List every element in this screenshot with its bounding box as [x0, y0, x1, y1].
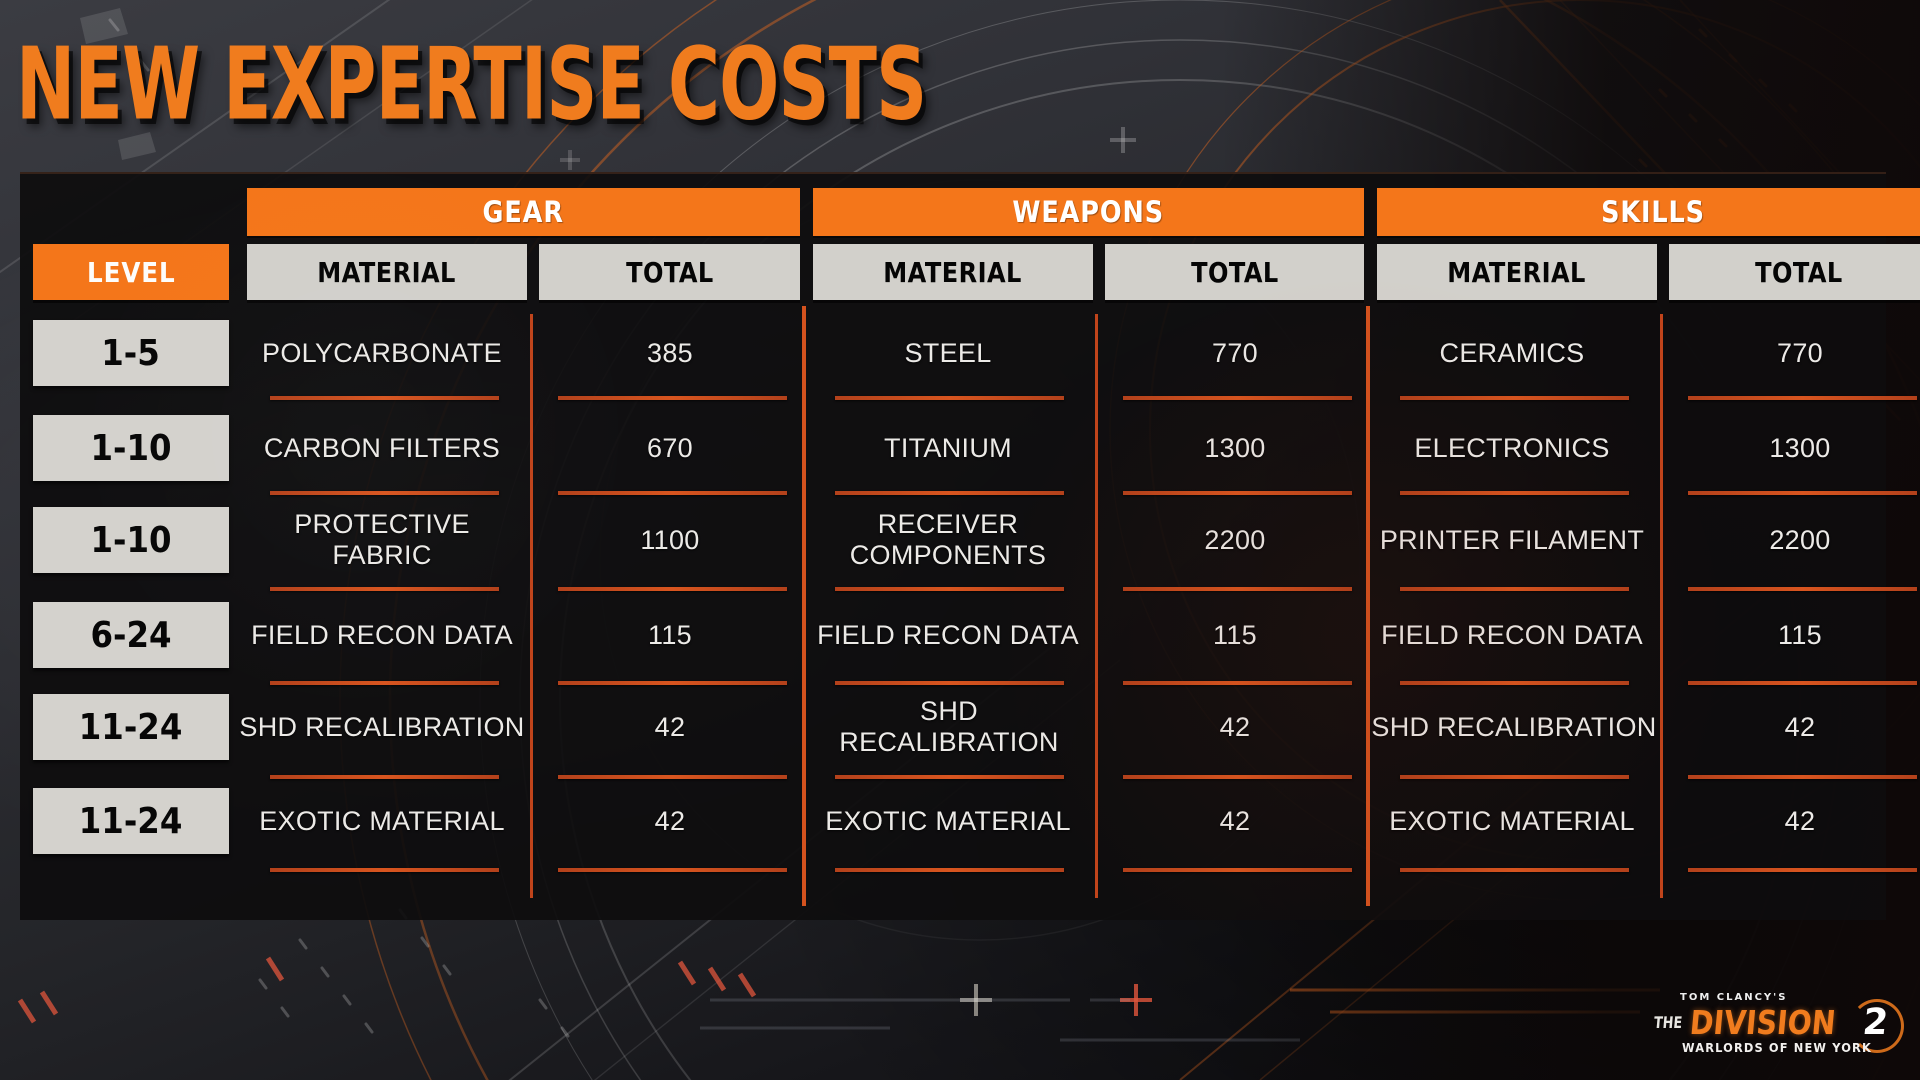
rule-gear-material-4 [270, 681, 499, 685]
rule-skills-total-4 [1688, 681, 1917, 685]
cell-weapons-material-row-3: RECEIVER COMPONENTS [833, 500, 1063, 580]
cell-skills-total-row-3: 2200 [1678, 507, 1920, 573]
divider-gear-material-total [530, 314, 533, 898]
rule-gear-total-3 [558, 587, 787, 591]
level-badge-row-1: 1-5 [33, 320, 229, 386]
rule-skills-material-3 [1400, 587, 1629, 591]
column-header-weapons-total: TOTAL [1105, 244, 1364, 300]
level-badge-row-3: 1-10 [33, 507, 229, 573]
rule-weapons-total-2 [1123, 491, 1352, 495]
logo-the: THE [1653, 1013, 1683, 1032]
rule-skills-material-5 [1400, 775, 1629, 779]
rule-weapons-total-5 [1123, 775, 1352, 779]
cell-weapons-total-row-6: 42 [1113, 788, 1357, 854]
level-badge-row-6: 11-24 [33, 788, 229, 854]
cell-gear-total-row-2: 670 [548, 415, 792, 481]
cell-weapons-material-row-2: TITANIUM [813, 415, 1083, 481]
rule-skills-total-6 [1688, 868, 1917, 872]
cell-gear-total-row-4: 115 [548, 602, 792, 668]
rule-skills-total-1 [1688, 396, 1917, 400]
rule-gear-total-4 [558, 681, 787, 685]
cell-skills-total-row-1: 770 [1678, 320, 1920, 386]
cell-gear-material-row-5: SHD RECALIBRATION [239, 694, 525, 760]
rule-skills-total-3 [1688, 587, 1917, 591]
rule-weapons-total-6 [1123, 868, 1352, 872]
rule-gear-material-6 [270, 868, 499, 872]
cell-weapons-material-row-1: STEEL [813, 320, 1083, 386]
rule-weapons-total-1 [1123, 396, 1352, 400]
rule-skills-total-5 [1688, 775, 1917, 779]
logo-wordmark: THE DIVISION 2 [1652, 1004, 1902, 1040]
divider-weapons-material-total [1095, 314, 1098, 898]
column-header-skills-total: TOTAL [1669, 244, 1920, 300]
rule-weapons-material-3 [835, 587, 1064, 591]
rule-skills-material-4 [1400, 681, 1629, 685]
the-division-2-logo: TOM CLANCY'S THE DIVISION 2 WARLORDS OF … [1652, 992, 1902, 1070]
divider-skills-material-total [1660, 314, 1663, 898]
cell-weapons-material-row-6: EXOTIC MATERIAL [813, 788, 1083, 854]
cell-skills-total-row-4: 115 [1678, 602, 1920, 668]
cell-weapons-total-row-3: 2200 [1113, 507, 1357, 573]
cell-weapons-total-row-2: 1300 [1113, 415, 1357, 481]
rule-skills-total-2 [1688, 491, 1917, 495]
rule-weapons-total-3 [1123, 587, 1352, 591]
rule-gear-total-2 [558, 491, 787, 495]
rule-weapons-total-4 [1123, 681, 1352, 685]
cell-skills-total-row-2: 1300 [1678, 415, 1920, 481]
rule-weapons-material-1 [835, 396, 1064, 400]
rule-gear-material-3 [270, 587, 499, 591]
rule-skills-material-2 [1400, 491, 1629, 495]
rule-skills-material-1 [1400, 396, 1629, 400]
rule-gear-total-6 [558, 868, 787, 872]
cell-gear-total-row-1: 385 [548, 320, 792, 386]
cell-gear-material-row-6: EXOTIC MATERIAL [247, 788, 517, 854]
cell-gear-material-row-2: CARBON FILTERS [247, 415, 517, 481]
rule-gear-material-2 [270, 491, 499, 495]
page-title: NEW EXPERTISE COSTS [16, 26, 926, 142]
rule-gear-total-5 [558, 775, 787, 779]
level-badge-row-4: 6-24 [33, 602, 229, 668]
group-header-gear: GEAR [247, 188, 800, 236]
rule-weapons-material-2 [835, 491, 1064, 495]
cell-gear-material-row-4: FIELD RECON DATA [247, 602, 517, 668]
rule-skills-material-6 [1400, 868, 1629, 872]
expertise-costs-table: GEAR WEAPONS SKILLS LEVEL MATERIAL TOTAL… [20, 172, 1886, 920]
rule-weapons-material-5 [835, 775, 1064, 779]
logo-subtitle: WARLORDS OF NEW YORK [1658, 1041, 1896, 1055]
cell-skills-material-row-2: ELECTRONICS [1377, 415, 1647, 481]
cell-weapons-material-row-4: FIELD RECON DATA [813, 602, 1083, 668]
logo-division: DIVISION [1688, 1003, 1837, 1042]
level-badge-row-5: 11-24 [33, 694, 229, 760]
rule-gear-material-1 [270, 396, 499, 400]
rule-gear-total-1 [558, 396, 787, 400]
cell-gear-total-row-3: 1100 [548, 507, 792, 573]
cell-gear-total-row-6: 42 [548, 788, 792, 854]
column-header-gear-total: TOTAL [539, 244, 800, 300]
cell-skills-material-row-1: CERAMICS [1377, 320, 1647, 386]
divider-weapons-skills [1366, 306, 1370, 906]
cell-skills-material-row-6: EXOTIC MATERIAL [1377, 788, 1647, 854]
cell-weapons-total-row-5: 42 [1113, 694, 1357, 760]
cell-skills-total-row-6: 42 [1678, 788, 1920, 854]
divider-gear-weapons [802, 306, 806, 906]
rule-weapons-material-4 [835, 681, 1064, 685]
cell-gear-material-row-3: PROTECTIVE FABRIC [243, 507, 521, 573]
group-header-skills: SKILLS [1377, 188, 1920, 236]
cell-weapons-total-row-4: 115 [1113, 602, 1357, 668]
rule-weapons-material-6 [835, 868, 1064, 872]
column-header-weapons-material: MATERIAL [813, 244, 1093, 300]
cell-skills-total-row-5: 42 [1678, 694, 1920, 760]
cell-gear-material-row-1: POLYCARBONATE [247, 320, 517, 386]
group-header-weapons: WEAPONS [813, 188, 1364, 236]
column-header-gear-material: MATERIAL [247, 244, 527, 300]
cell-weapons-material-row-5: SHD RECALIBRATION [808, 694, 1090, 760]
cell-skills-material-row-4: FIELD RECON DATA [1377, 602, 1647, 668]
cell-gear-total-row-5: 42 [548, 694, 792, 760]
cell-weapons-total-row-1: 770 [1113, 320, 1357, 386]
rule-gear-material-5 [270, 775, 499, 779]
level-badge-row-2: 1-10 [33, 415, 229, 481]
cell-skills-material-row-3: PRINTER FILAMENT [1373, 507, 1651, 573]
cell-skills-material-row-5: SHD RECALIBRATION [1371, 694, 1657, 760]
column-header-skills-material: MATERIAL [1377, 244, 1657, 300]
column-header-level: LEVEL [33, 244, 229, 300]
